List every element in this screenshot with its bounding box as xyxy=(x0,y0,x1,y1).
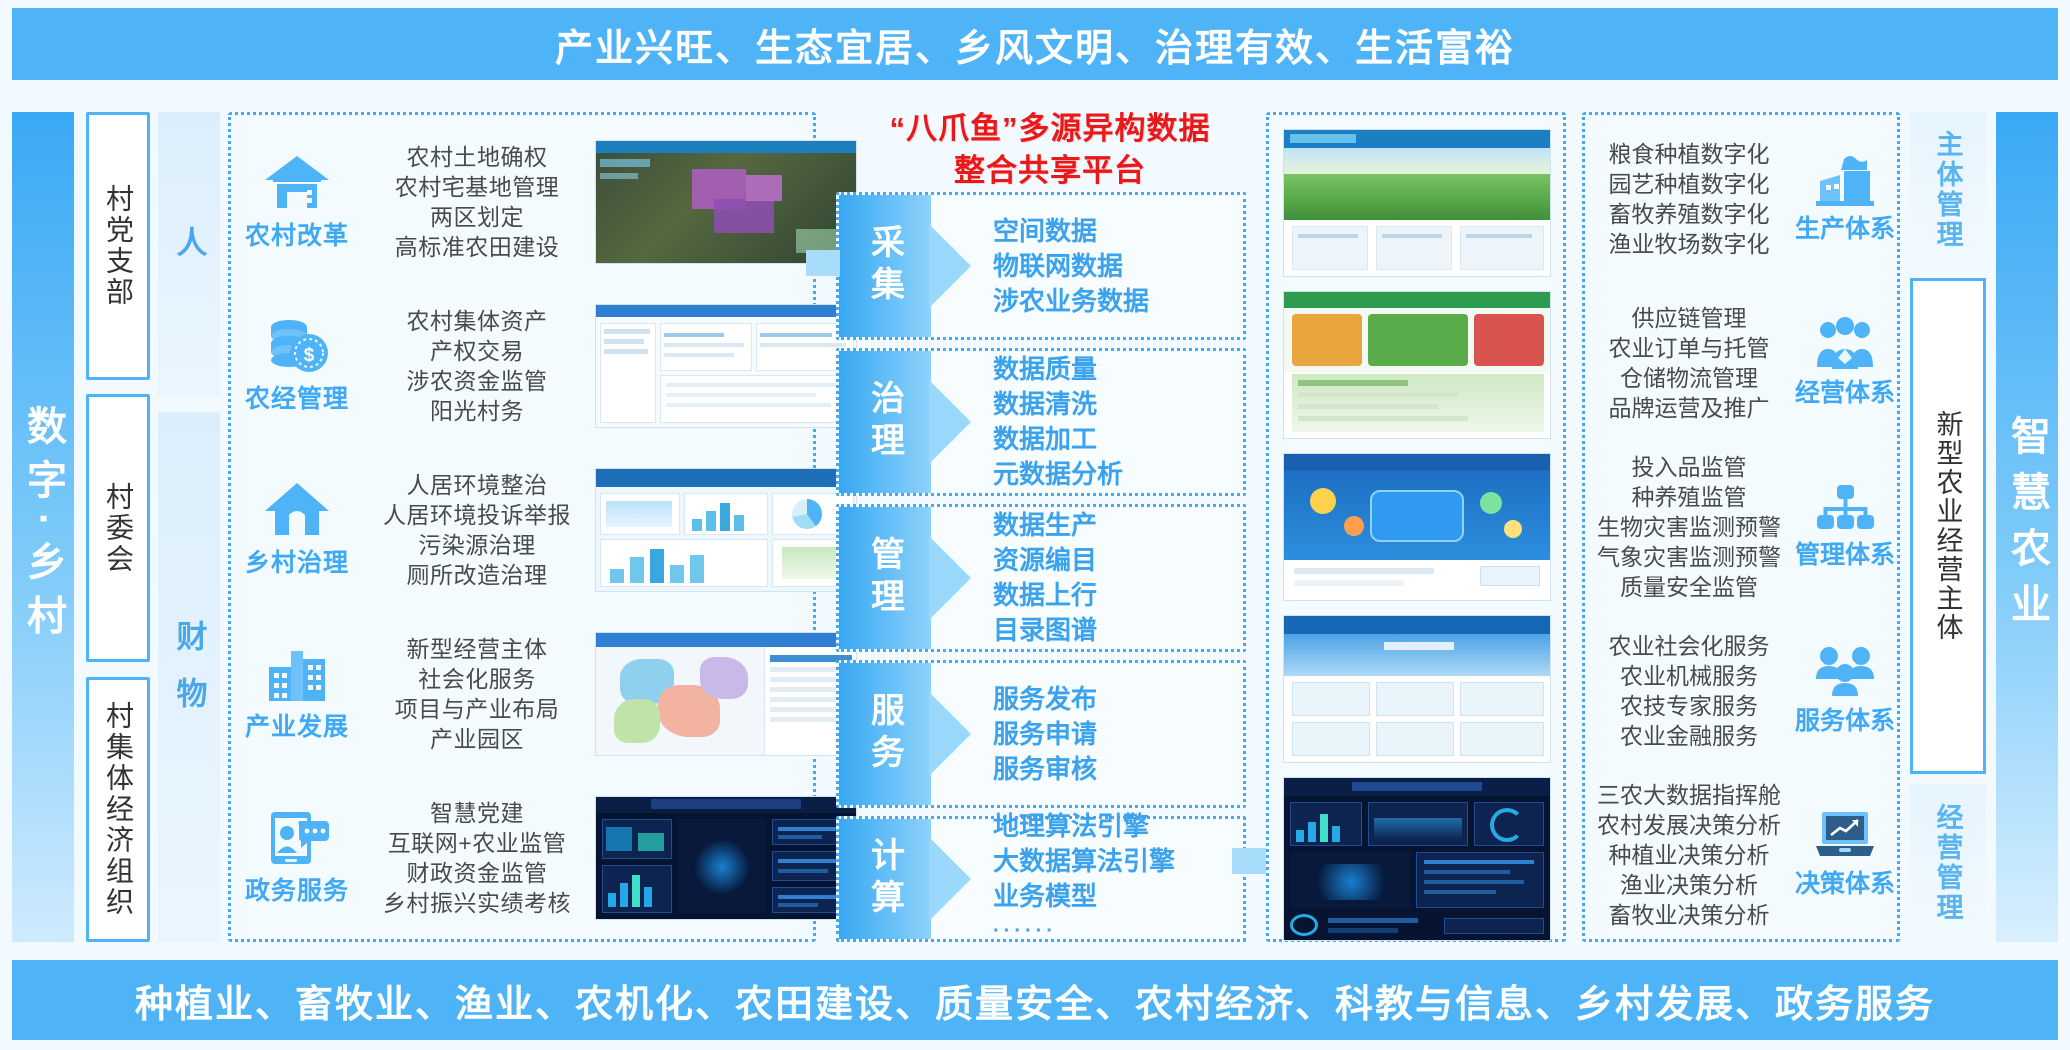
system-item: 投入品监管 xyxy=(1585,452,1793,482)
capability-icon-wrap: 政务服务 xyxy=(231,809,363,907)
capability-label: 乡村治理 xyxy=(245,543,349,579)
stage-item: 业务模型 xyxy=(993,879,1243,914)
stage-item: 服务发布 xyxy=(993,682,1243,717)
system-row-operation[interactable]: 供应链管理 农业订单与托管 仓储物流管理 品牌运营及推广 经营体系 xyxy=(1585,283,1897,443)
system-row-decision[interactable]: 三农大数据指挥舱 农村发展决策分析 种植业决策分析 渔业决策分析 畜牧业决策分析… xyxy=(1585,775,1897,935)
management-middle-label: 新型农业经营主体 xyxy=(1929,410,1968,642)
system-item: 农业机械服务 xyxy=(1585,661,1793,691)
system-item: 种植业决策分析 xyxy=(1585,840,1793,870)
system-label: 决策体系 xyxy=(1795,864,1895,900)
resource-label: 财物 xyxy=(167,620,212,734)
home-icon xyxy=(263,481,331,539)
system-item: 农业金融服务 xyxy=(1585,721,1793,751)
org-box-village-committee[interactable]: 村委会 xyxy=(86,394,150,662)
bigdata-cockpit-screenshot[interactable] xyxy=(1283,777,1551,941)
capability-item: 高标准农田建设 xyxy=(363,232,591,262)
svg-text:$: $ xyxy=(304,345,315,366)
system-items: 投入品监管 种养殖监管 生物灾害监测预警 气象灾害监测预警 质量安全监管 xyxy=(1585,452,1793,602)
system-icon-wrap: 决策体系 xyxy=(1793,810,1897,900)
capability-item: 产业园区 xyxy=(363,724,591,754)
capability-items: 农村土地确权 农村宅基地管理 两区划定 高标准农田建设 xyxy=(363,142,591,262)
capability-item: 人居环境投诉举报 xyxy=(363,500,591,530)
capability-item: 农村宅基地管理 xyxy=(363,172,591,202)
stage-key: 计算 xyxy=(839,819,931,939)
produce-catalog-screenshot[interactable] xyxy=(1283,291,1551,439)
capability-item: 乡村振兴实绩考核 xyxy=(363,888,591,918)
people-group-icon xyxy=(1814,317,1876,371)
stage-items: 地理算法引擎 大数据算法引擎 业务模型 ······ xyxy=(931,819,1243,939)
connector-left-nub xyxy=(806,250,840,276)
system-item: 农业社会化服务 xyxy=(1585,631,1793,661)
system-item: 品牌运营及推广 xyxy=(1585,393,1793,423)
system-item: 渔业牧场数字化 xyxy=(1585,229,1793,259)
form-dashboard-screenshot[interactable] xyxy=(595,304,857,428)
stage-service[interactable]: 服务 服务发布 服务申请 服务审核 xyxy=(836,660,1246,808)
system-item: 生物灾害监测预警 xyxy=(1585,512,1793,542)
system-item: 种养殖监管 xyxy=(1585,482,1793,512)
resource-people: 人 xyxy=(158,112,220,397)
footer-banner: 种植业、畜牧业、渔业、农机化、农田建设、质量安全、农村经济、科教与信息、乡村发展… xyxy=(12,960,2058,1040)
management-bottom-label: 经营管理 xyxy=(1929,803,1968,923)
system-item: 农业订单与托管 xyxy=(1585,333,1793,363)
stage-collect[interactable]: 采集 空间数据 物联网数据 涉农业务数据 xyxy=(836,192,1246,340)
org-box-label: 村党支部 xyxy=(98,184,138,308)
left-rail-label: 数字·乡村 xyxy=(14,405,72,648)
stage-item: 空间数据 xyxy=(993,214,1243,249)
stage-key: 采集 xyxy=(839,195,931,337)
platform-title: “八爪鱼”多源异构数据 整合共享平台 xyxy=(840,108,1260,192)
systems-panel: 粮食种植数字化 园艺种植数字化 畜牧养殖数字化 渔业牧场数字化 生产体系 xyxy=(1582,112,1900,942)
dark-command-center-screenshot[interactable] xyxy=(595,796,857,920)
stage-key: 治理 xyxy=(839,351,931,493)
resource-column: 人 财物 xyxy=(158,112,220,942)
system-icon-wrap: 生产体系 xyxy=(1793,153,1897,245)
house-icon xyxy=(263,152,331,212)
buildings-icon xyxy=(263,645,331,703)
system-icon-wrap: 经营体系 xyxy=(1793,317,1897,409)
stage-item: 数据生产 xyxy=(993,508,1243,543)
system-label: 管理体系 xyxy=(1795,535,1895,571)
operation-management-label: 经营管理 xyxy=(1910,784,1986,942)
stage-items: 数据生产 资源编目 数据上行 目录图谱 xyxy=(931,507,1243,649)
system-item: 气象灾害监测预警 xyxy=(1585,542,1793,572)
three-users-icon xyxy=(1814,645,1876,699)
system-item: 供应链管理 xyxy=(1585,303,1793,333)
stage-item: 数据质量 xyxy=(993,352,1243,387)
system-item: 质量安全监管 xyxy=(1585,572,1793,602)
stage-item: 数据清洗 xyxy=(993,387,1243,422)
capability-item: 涉农资金监管 xyxy=(363,366,591,396)
system-item: 三农大数据指挥舱 xyxy=(1585,780,1793,810)
system-items: 农业社会化服务 农业机械服务 农技专家服务 农业金融服务 xyxy=(1585,631,1793,751)
resource-label: 人 xyxy=(167,226,212,283)
capability-item: 新型经营主体 xyxy=(363,634,591,664)
org-box-party-branch[interactable]: 村党支部 xyxy=(86,112,150,380)
system-item: 渔业决策分析 xyxy=(1585,870,1793,900)
capability-row-industry-development[interactable]: 产业发展 新型经营主体 社会化服务 项目与产业布局 产业园区 xyxy=(231,615,813,773)
capability-item: 厕所改造治理 xyxy=(363,560,591,590)
service-grid-screenshot[interactable] xyxy=(1283,615,1551,763)
system-items: 供应链管理 农业订单与托管 仓储物流管理 品牌运营及推广 xyxy=(1585,303,1793,423)
stage-governance[interactable]: 治理 数据质量 数据清洗 数据加工 元数据分析 xyxy=(836,348,1246,496)
system-item: 农技专家服务 xyxy=(1585,691,1793,721)
system-label: 生产体系 xyxy=(1795,209,1895,245)
right-rail-title: 智慧农业 xyxy=(1996,112,2058,942)
stage-item: 服务审核 xyxy=(993,752,1243,787)
system-row-service[interactable]: 农业社会化服务 农业机械服务 农技专家服务 农业金融服务 服务体系 xyxy=(1585,611,1897,771)
capability-item: 互联网+农业监管 xyxy=(363,828,591,858)
system-items: 三农大数据指挥舱 农村发展决策分析 种植业决策分析 渔业决策分析 畜牧业决策分析 xyxy=(1585,780,1793,930)
capability-label: 农村改革 xyxy=(245,216,349,252)
capability-icon-wrap: $ 农经管理 xyxy=(231,317,363,415)
system-label: 经营体系 xyxy=(1795,373,1895,409)
capability-items: 新型经营主体 社会化服务 项目与产业布局 产业园区 xyxy=(363,634,591,754)
capability-items: 人居环境整治 人居环境投诉举报 污染源治理 厕所改造治理 xyxy=(363,470,591,590)
footer-title: 种植业、畜牧业、渔业、农机化、农田建设、质量安全、农村经济、科教与信息、乡村发展… xyxy=(135,973,1935,1028)
org-box-label: 村集体经济组织 xyxy=(98,701,138,918)
stage-item: 数据加工 xyxy=(993,422,1243,457)
capability-row-rural-reform[interactable]: 农村改革 农村土地确权 农村宅基地管理 两区划定 高标准农田建设 xyxy=(231,123,813,281)
connector-right-nub xyxy=(1232,848,1266,874)
coins-icon: $ xyxy=(263,317,331,375)
capability-label: 产业发展 xyxy=(245,707,349,743)
capability-item: 智慧党建 xyxy=(363,798,591,828)
platform-title-line1: “八爪鱼”多源异构数据 xyxy=(840,108,1260,150)
analytics-dashboard-screenshot[interactable] xyxy=(595,468,857,592)
capability-item: 人居环境整治 xyxy=(363,470,591,500)
capability-row-government-service[interactable]: 政务服务 智慧党建 互联网+农业监管 财政资金监管 乡村振兴实绩考核 xyxy=(231,779,813,937)
capability-item: 污染源治理 xyxy=(363,530,591,560)
mobile-service-icon xyxy=(263,809,331,867)
stage-compute[interactable]: 计算 地理算法引擎 大数据算法引擎 业务模型 ······ xyxy=(836,816,1246,942)
system-item: 畜牧业决策分析 xyxy=(1585,900,1793,930)
left-rail-title: 数字·乡村 xyxy=(12,112,74,942)
header-banner: 产业兴旺、生态宜居、乡风文明、治理有效、生活富裕 xyxy=(12,8,2058,80)
capability-item: 项目与产业布局 xyxy=(363,694,591,724)
system-icon-wrap: 服务体系 xyxy=(1793,645,1897,737)
infographic-page: 产业兴旺、生态宜居、乡风文明、治理有效、生活富裕 数字·乡村 村党支部 村委会 … xyxy=(0,0,2070,1050)
stage-item: 服务申请 xyxy=(993,717,1243,752)
capability-item: 农村土地确权 xyxy=(363,142,591,172)
right-rail-label: 智慧农业 xyxy=(1998,415,2056,639)
stage-item: 目录图谱 xyxy=(993,613,1243,648)
stage-items: 数据质量 数据清洗 数据加工 元数据分析 xyxy=(931,351,1243,493)
system-items: 粮食种植数字化 园艺种植数字化 畜牧养殖数字化 渔业牧场数字化 xyxy=(1585,139,1793,259)
org-column: 村党支部 村委会 村集体经济组织 xyxy=(86,112,150,942)
factory-icon xyxy=(1814,153,1876,207)
satellite-map-screenshot[interactable] xyxy=(595,140,857,264)
stage-key: 服务 xyxy=(839,663,931,805)
screenshot-strip-panel xyxy=(1266,112,1566,942)
system-item: 粮食种植数字化 xyxy=(1585,139,1793,169)
header-title: 产业兴旺、生态宜居、乡风文明、治理有效、生活富裕 xyxy=(555,17,1515,72)
stage-item: 大数据算法引擎 xyxy=(993,844,1243,879)
capability-label: 政务服务 xyxy=(245,871,349,907)
system-row-management[interactable]: 投入品监管 种养殖监管 生物灾害监测预警 气象灾害监测预警 质量安全监管 xyxy=(1585,447,1897,607)
capability-item: 财政资金监管 xyxy=(363,858,591,888)
system-item: 畜牧养殖数字化 xyxy=(1585,199,1793,229)
system-item: 农村发展决策分析 xyxy=(1585,810,1793,840)
management-top-label: 主体管理 xyxy=(1929,130,1968,250)
platform-title-line2: 整合共享平台 xyxy=(840,150,1260,192)
stage-item: 元数据分析 xyxy=(993,457,1243,492)
resource-finance-assets: 财物 xyxy=(158,412,220,942)
stage-key: 管理 xyxy=(839,507,931,649)
capability-item: 阳光村务 xyxy=(363,396,591,426)
capability-item: 农村集体资产 xyxy=(363,306,591,336)
stage-items: 空间数据 物联网数据 涉农业务数据 xyxy=(931,195,1243,337)
capability-panel: 农村改革 农村土地确权 农村宅基地管理 两区划定 高标准农田建设 xyxy=(228,112,816,942)
capability-item: 社会化服务 xyxy=(363,664,591,694)
capability-icon-wrap: 农村改革 xyxy=(231,152,363,252)
stage-item-more: ······ xyxy=(993,914,1243,949)
capability-row-rural-governance[interactable]: 乡村治理 人居环境整治 人居环境投诉举报 污染源治理 厕所改造治理 xyxy=(231,451,813,609)
capability-row-rural-economy[interactable]: $ 农经管理 农村集体资产 产权交易 涉农资金监管 阳光村务 xyxy=(231,287,813,445)
capability-items: 智慧党建 互联网+农业监管 财政资金监管 乡村振兴实绩考核 xyxy=(363,798,591,918)
capability-item: 产权交易 xyxy=(363,336,591,366)
system-item: 仓储物流管理 xyxy=(1585,363,1793,393)
subject-management-label: 主体管理 xyxy=(1910,112,1986,267)
system-label: 服务体系 xyxy=(1795,701,1895,737)
laptop-chart-icon xyxy=(1812,810,1878,862)
gis-map-screenshot[interactable] xyxy=(595,632,857,756)
stage-item: 物联网数据 xyxy=(993,249,1243,284)
stage-management[interactable]: 管理 数据生产 资源编目 数据上行 目录图谱 xyxy=(836,504,1246,652)
stage-item: 地理算法引擎 xyxy=(993,809,1243,844)
capability-icon-wrap: 产业发展 xyxy=(231,645,363,743)
system-icon-wrap: 管理体系 xyxy=(1793,483,1897,571)
capability-icon-wrap: 乡村治理 xyxy=(231,481,363,579)
system-row-production[interactable]: 粮食种植数字化 园艺种植数字化 畜牧养殖数字化 渔业牧场数字化 生产体系 xyxy=(1585,119,1897,279)
stage-item: 涉农业务数据 xyxy=(993,284,1243,319)
stage-items: 服务发布 服务申请 服务审核 xyxy=(931,663,1243,805)
org-box-label: 村委会 xyxy=(98,482,138,575)
stage-item: 资源编目 xyxy=(993,543,1243,578)
org-chart-icon xyxy=(1814,483,1876,533)
food-safety-portal-screenshot[interactable] xyxy=(1283,453,1551,601)
capability-item: 两区划定 xyxy=(363,202,591,232)
capability-label: 农经管理 xyxy=(245,379,349,415)
org-box-collective-economy[interactable]: 村集体经济组织 xyxy=(86,677,150,942)
capability-items: 农村集体资产 产权交易 涉农资金监管 阳光村务 xyxy=(363,306,591,426)
stage-item: 数据上行 xyxy=(993,578,1243,613)
system-item: 园艺种植数字化 xyxy=(1585,169,1793,199)
new-agri-entity-box[interactable]: 新型农业经营主体 xyxy=(1910,278,1986,774)
agri-portal-screenshot[interactable] xyxy=(1283,129,1551,277)
management-column: 主体管理 新型农业经营主体 经营管理 xyxy=(1910,112,1986,942)
